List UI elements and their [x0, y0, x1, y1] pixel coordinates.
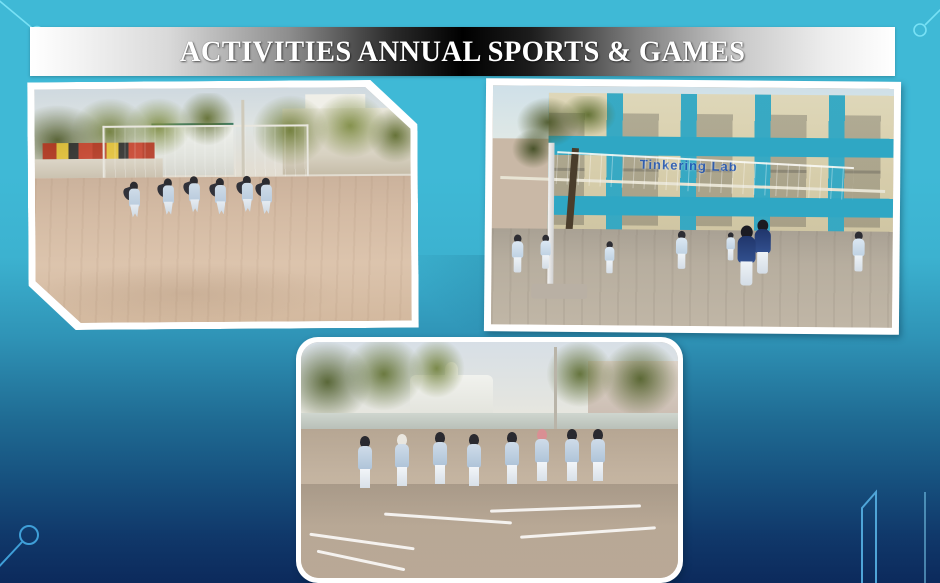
- photo-volleyball-courtyard: Tinkering Lab: [491, 85, 894, 327]
- slide-canvas: ACTIVITIES ANNUAL SPORTS & GAMES: [0, 0, 940, 583]
- photo-starting-line: [301, 342, 678, 578]
- angled-line-bottom-right-icon: [858, 470, 940, 583]
- photo-frame-volleyball[interactable]: Tinkering Lab: [484, 78, 901, 335]
- photo-frame-starting-line[interactable]: [296, 337, 683, 583]
- title-banner: ACTIVITIES ANNUAL SPORTS & GAMES: [30, 27, 895, 76]
- photo-frame-running-race[interactable]: [27, 80, 419, 331]
- ring-line-bottom-left-icon: [0, 516, 64, 580]
- page-title: ACTIVITIES ANNUAL SPORTS & GAMES: [180, 35, 745, 69]
- photo-running-race: [34, 87, 412, 324]
- ring-line-top-right-icon: [908, 2, 940, 48]
- vertical-stripe-right: [924, 492, 926, 583]
